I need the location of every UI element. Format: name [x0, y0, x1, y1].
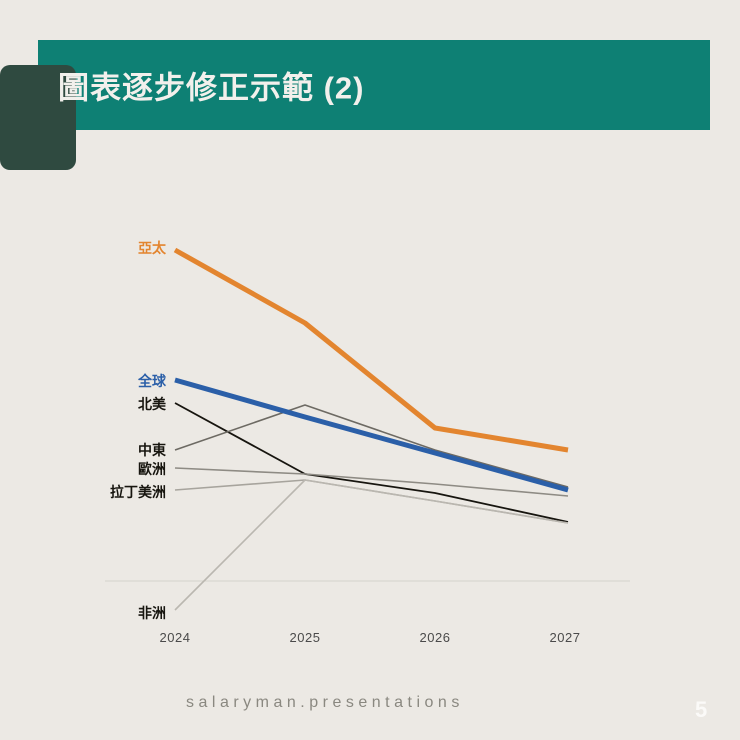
series-line-拉丁美洲[interactable]: [175, 480, 568, 523]
title-banner: 圖表逐步修正示範 (2): [38, 40, 710, 130]
x-axis-tick-2025: 2025: [290, 630, 321, 645]
footer-brand: salaryman.presentations: [186, 694, 464, 712]
series-line-北美[interactable]: [175, 403, 568, 522]
series-label-拉丁美洲: 拉丁美洲: [0, 482, 166, 502]
page-title: 圖表逐步修正示範 (2): [58, 63, 365, 108]
series-line-亞太[interactable]: [175, 250, 568, 450]
series-label-全球: 全球: [0, 371, 166, 391]
x-axis-tick-2026: 2026: [420, 630, 451, 645]
series-label-歐洲: 歐洲: [0, 459, 166, 479]
x-axis-tick-2024: 2024: [160, 630, 191, 645]
x-axis-tick-2027: 2027: [550, 630, 581, 645]
page-number: 5: [695, 697, 707, 723]
series-label-中東: 中東: [0, 440, 166, 460]
series-label-非洲: 非洲: [0, 603, 166, 623]
series-line-非洲[interactable]: [175, 480, 568, 610]
series-label-北美: 北美: [0, 394, 166, 414]
series-label-亞太: 亞太: [0, 238, 166, 258]
